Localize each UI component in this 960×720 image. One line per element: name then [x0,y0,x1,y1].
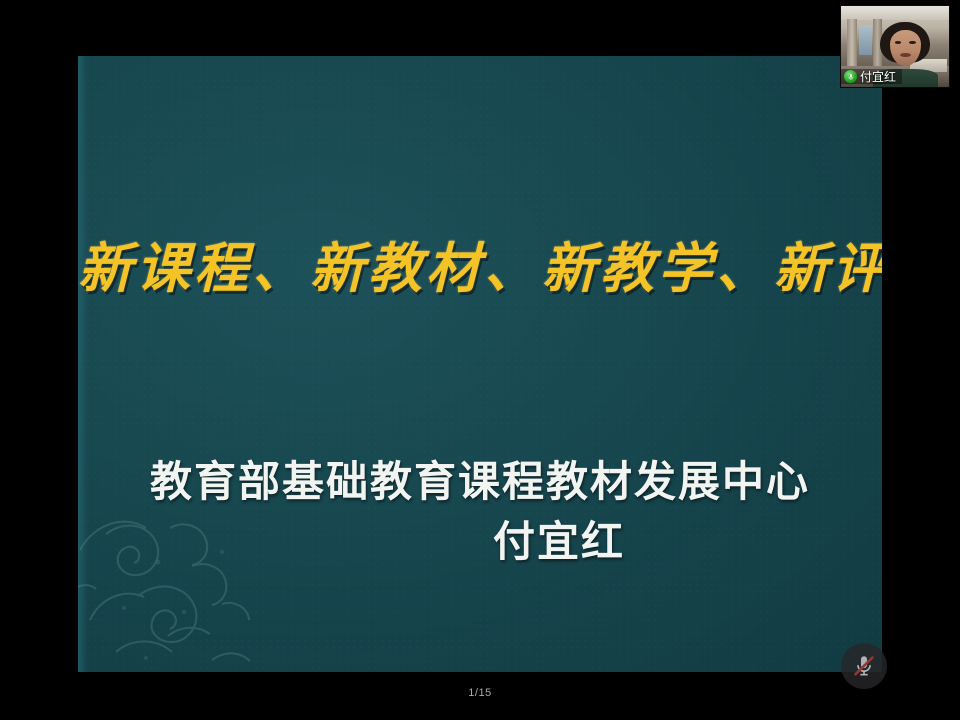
screen-share-viewport: 新课程、新教材、新教学、新评价 教育部基础教育课程教材发展中心 付宜红 1/15 [0,0,960,720]
microphone-active-icon [844,70,857,83]
video-window [859,25,872,54]
presentation-slide[interactable]: 新课程、新教材、新教学、新评价 教育部基础教育课程教材发展中心 付宜红 [78,56,882,672]
speaker-name-badge: 付宜红 [841,69,902,84]
video-column-left [847,19,857,69]
video-ceiling [841,6,949,20]
slide-title: 新课程、新教材、新教学、新评价 [78,224,882,303]
slide-texture [78,56,882,672]
slide-edge-sheen [78,56,88,672]
slide-subtitle-organization: 教育部基础教育课程教材发展中心 [78,448,882,509]
video-thumbnail-self-view[interactable]: 付宜红 [840,5,950,88]
page-indicator: 1/15 [0,687,960,699]
video-person-eye-left [895,41,901,44]
speaker-name-label: 付宜红 [860,71,896,83]
microphone-muted-icon [851,653,877,679]
mute-button[interactable] [841,643,887,689]
video-person-eye-right [909,41,915,44]
slide-presenter-name: 付宜红 [78,508,882,569]
